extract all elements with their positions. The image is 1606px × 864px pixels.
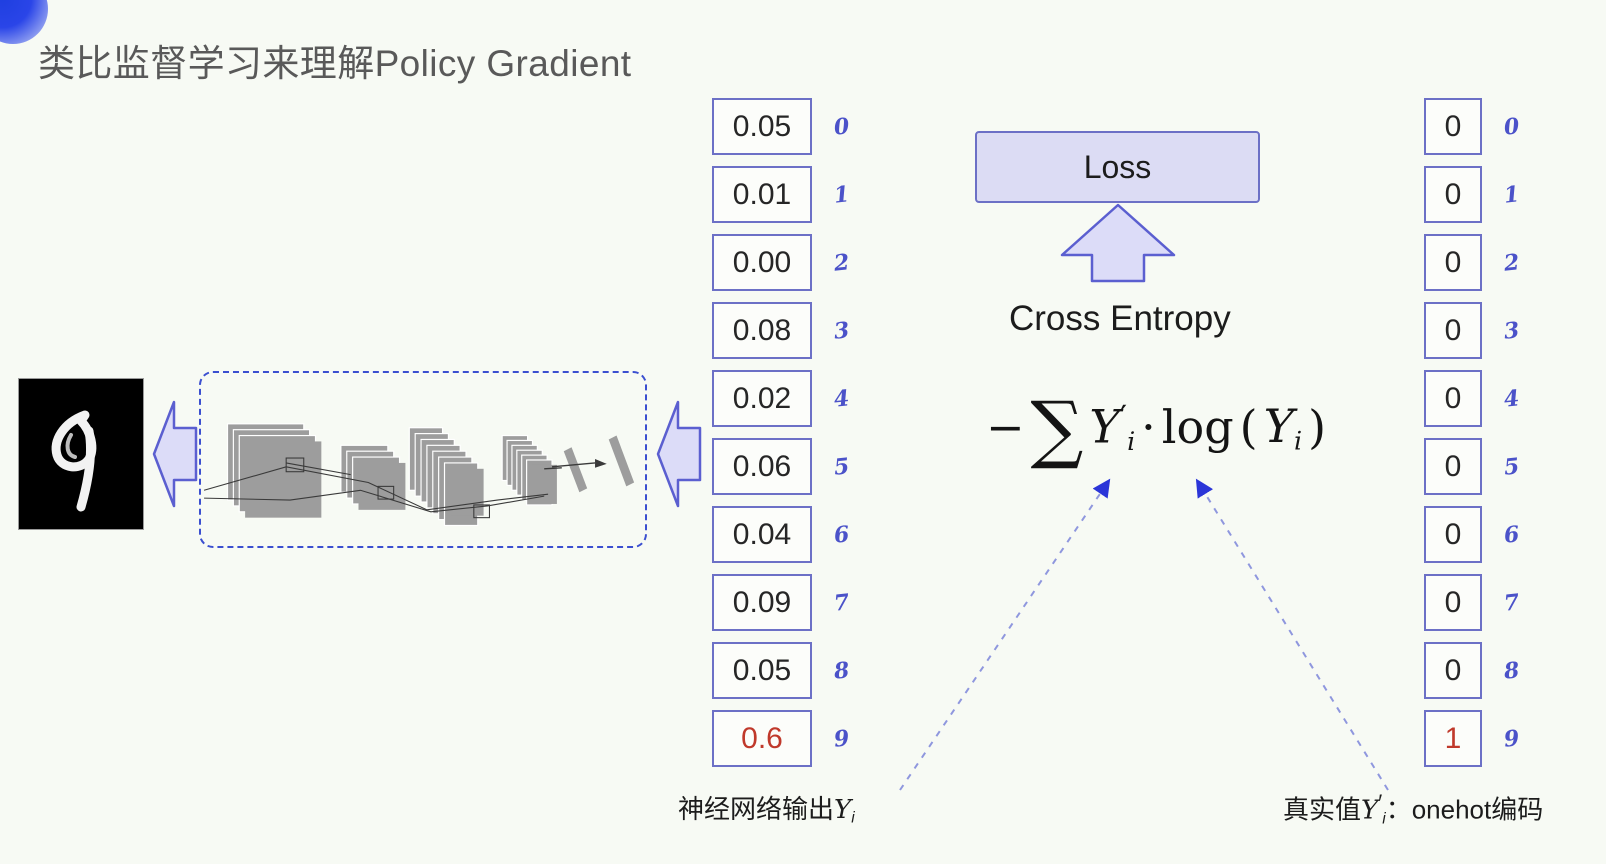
digit-9-glyph	[19, 379, 141, 527]
cnn-layers-illustration	[201, 373, 645, 546]
vector-row: 0.01 1	[712, 166, 849, 223]
formula-pred-subscript: i	[1294, 426, 1302, 455]
arrow-onehot-to-formula	[1198, 482, 1388, 790]
output-caption-subscript: i	[851, 810, 854, 827]
output-cell-3[interactable]: 0.08	[712, 302, 812, 359]
output-cell-5[interactable]: 0.06	[712, 438, 812, 495]
formula-prime: ′	[1120, 398, 1127, 436]
slide-canvas: 类比监督学习来理解Policy Gradient	[0, 0, 1606, 864]
onehot-cell-8[interactable]: 0	[1424, 642, 1482, 699]
onehot-cell-9[interactable]: 1	[1424, 710, 1482, 767]
vector-row: 0.08 3	[712, 302, 849, 359]
vector-row: 0 3	[1424, 302, 1519, 359]
arrow-output-to-formula	[900, 482, 1108, 790]
vector-row: 0.04 6	[712, 506, 849, 563]
onehot-cell-2[interactable]: 0	[1424, 234, 1482, 291]
onehot-cell-3[interactable]: 0	[1424, 302, 1482, 359]
vector-row: 0 1	[1424, 166, 1519, 223]
vector-row: 0 8	[1424, 642, 1519, 699]
page-title: 类比监督学习来理解Policy Gradient	[38, 33, 632, 87]
onehot-vector-caption: 真实值Y′i：onehot编码	[1283, 789, 1543, 828]
output-index-8: 8	[833, 657, 851, 684]
output-cell-6[interactable]: 0.04	[712, 506, 812, 563]
output-index-5: 5	[833, 453, 851, 480]
output-index-1: 1	[833, 181, 851, 208]
output-caption-text: 神经网络输出	[678, 794, 834, 824]
formula-open-paren: (	[1240, 400, 1258, 454]
formula-sum-symbol: ∑	[1031, 402, 1084, 458]
onehot-caption-symbol: Y	[1361, 796, 1378, 826]
onehot-caption-prefix: 真实值	[1283, 795, 1361, 825]
output-index-4: 4	[833, 385, 851, 412]
vector-row: 0 0	[1424, 98, 1519, 155]
vector-row: 1 9	[1424, 710, 1519, 767]
onehot-index-4: 4	[1503, 385, 1521, 412]
onehot-cell-1[interactable]: 0	[1424, 166, 1482, 223]
formula-dot: ·	[1141, 400, 1156, 454]
onehot-cell-6[interactable]: 0	[1424, 506, 1482, 563]
arrow-network-to-output	[656, 400, 702, 508]
output-index-9: 9	[833, 725, 851, 752]
onehot-index-7: 7	[1503, 589, 1521, 616]
output-index-3: 3	[833, 317, 851, 344]
output-index-0: 0	[833, 113, 851, 140]
output-caption-symbol: Y	[834, 795, 851, 825]
connector-arrows	[880, 460, 1400, 800]
vector-row: 0.6 9	[712, 710, 849, 767]
onehot-index-5: 5	[1503, 453, 1521, 480]
onehot-cell-4[interactable]: 0	[1424, 370, 1482, 427]
onehot-index-0: 0	[1503, 113, 1521, 140]
cross-entropy-formula: − ∑ Y′i · log ( Yi )	[986, 398, 1326, 456]
formula-close-paren: )	[1308, 400, 1326, 454]
onehot-index-6: 6	[1503, 521, 1521, 548]
vector-row: 0 5	[1424, 438, 1519, 495]
formula-true-subscript: i	[1127, 427, 1135, 456]
vector-row: 0.05 0	[712, 98, 849, 155]
onehot-cell-5[interactable]: 0	[1424, 438, 1482, 495]
output-cell-4[interactable]: 0.02	[712, 370, 812, 427]
mnist-digit-image	[18, 378, 144, 530]
output-index-7: 7	[833, 589, 851, 616]
onehot-index-3: 3	[1503, 317, 1521, 344]
formula-true-term: Y′i	[1089, 398, 1135, 456]
vector-row: 0.00 2	[712, 234, 849, 291]
vector-row: 0 7	[1424, 574, 1519, 631]
formula-pred-symbol: Y	[1264, 399, 1294, 453]
vector-row: 0 6	[1424, 506, 1519, 563]
output-cell-7[interactable]: 0.09	[712, 574, 812, 631]
onehot-cell-7[interactable]: 0	[1424, 574, 1482, 631]
arrow-input-to-network	[152, 400, 198, 508]
onehot-cell-0[interactable]: 0	[1424, 98, 1482, 155]
vector-row: 0 2	[1424, 234, 1519, 291]
onehot-index-2: 2	[1503, 249, 1521, 276]
vector-row: 0.06 5	[712, 438, 849, 495]
output-cell-1[interactable]: 0.01	[712, 166, 812, 223]
onehot-index-8: 8	[1503, 657, 1521, 684]
onehot-index-1: 1	[1503, 181, 1521, 208]
vector-row: 0.05 8	[712, 642, 849, 699]
loss-box: Loss	[975, 131, 1260, 203]
formula-minus: −	[986, 400, 1025, 454]
output-cell-8[interactable]: 0.05	[712, 642, 812, 699]
vector-row: 0 4	[1424, 370, 1519, 427]
output-index-2: 2	[833, 249, 851, 276]
output-cell-2[interactable]: 0.00	[712, 234, 812, 291]
onehot-caption-suffix: ：onehot编码	[1386, 795, 1544, 825]
formula-log: log	[1162, 400, 1234, 454]
vector-row: 0.02 4	[712, 370, 849, 427]
network-architecture-box	[199, 371, 647, 548]
output-vector-caption: 神经网络输出Yi	[678, 789, 855, 828]
output-cell-9[interactable]: 0.6	[712, 710, 812, 767]
vector-row: 0.09 7	[712, 574, 849, 631]
arrow-up-to-loss	[1058, 203, 1178, 283]
onehot-index-9: 9	[1503, 725, 1521, 752]
output-probability-vector: 0.05 0 0.01 1 0.00 2 0.08 3 0.02 4 0.06 …	[712, 98, 849, 778]
onehot-target-vector: 0 0 0 1 0 2 0 3 0 4 0 5 0 6 0 7	[1424, 98, 1519, 778]
cross-entropy-label: Cross Entropy	[1009, 299, 1231, 339]
output-cell-0[interactable]: 0.05	[712, 98, 812, 155]
formula-true-symbol: Y	[1089, 399, 1119, 453]
formula-pred-term: Yi	[1264, 399, 1302, 456]
output-index-6: 6	[833, 521, 851, 548]
